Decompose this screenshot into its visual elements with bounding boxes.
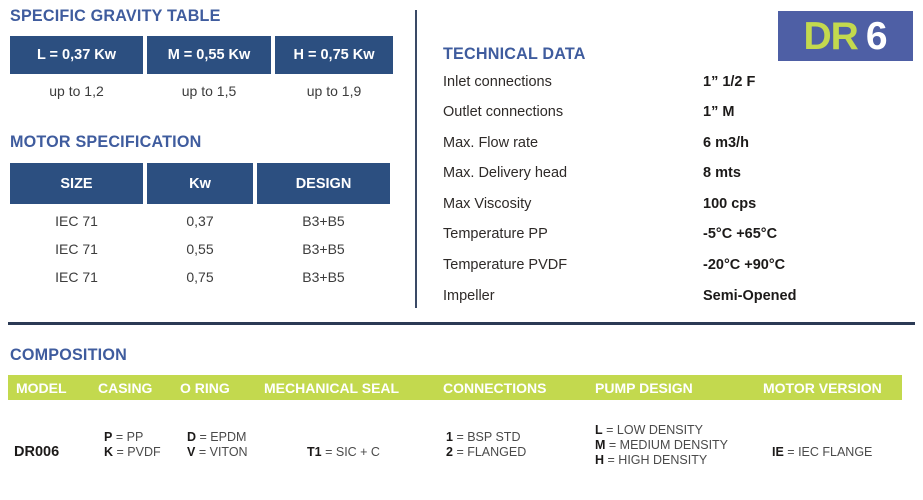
motor-specification-title: MOTOR SPECIFICATION [10,132,201,152]
composition-mechanical-seal-item-0: T1 = SIC + C [307,445,380,460]
composition-header-connections: CONNECTIONS [443,380,546,396]
composition-casing-code-1: K [104,445,113,459]
motor-cell-0-1: 0,37 [147,213,253,229]
composition-casing-item-1: K = PVDF [104,445,161,460]
motor-cell-0-0: IEC 71 [10,213,143,229]
composition-o-ring-item-1: V = VITON [187,445,248,460]
composition-casing-group: P = PP K = PVDF [104,430,161,460]
composition-title: COMPOSITION [10,345,127,365]
composition-header-mechanical-seal: MECHANICAL SEAL [264,380,399,396]
tech-value-5: -5°C +65°C [703,226,777,242]
composition-header-model: MODEL [16,380,67,396]
gravity-cell-sub-1: up to 1,5 [147,83,271,99]
composition-pump-design-value-2: = HIGH DENSITY [608,453,708,467]
composition-casing-item-0: P = PP [104,430,161,445]
composition-o-ring-value-1: = VITON [199,445,248,459]
motor-cell-0-2: B3+B5 [257,213,390,229]
tech-label-2: Max. Flow rate [443,135,538,151]
motor-cell-1-1: 0,55 [147,241,253,257]
specific-gravity-title: SPECIFIC GRAVITY TABLE [10,6,221,26]
gravity-cell-header-1: M = 0,55 Kw [147,36,271,74]
product-code-badge: DR 6 [778,11,913,61]
composition-motor-version-group: IE = IEC FLANGE [772,445,872,460]
technical-data-title: TECHNICAL DATA [443,44,586,64]
composition-connections-value-0: = BSP STD [456,430,520,444]
composition-mechanical-seal-value-0: = SIC + C [325,445,380,459]
composition-header-o-ring: O RING [180,380,230,396]
gravity-cell-sub-0: up to 1,2 [10,83,143,99]
badge-number: 6 [866,17,888,56]
composition-pump-design-value-0: = LOW DENSITY [606,423,703,437]
motor-cell-1-0: IEC 71 [10,241,143,257]
composition-header-bar: MODEL CASING O RING MECHANICAL SEAL CONN… [8,375,902,400]
motor-cell-2-1: 0,75 [147,269,253,285]
composition-connections-code-1: 2 [446,445,453,459]
composition-o-ring-item-0: D = EPDM [187,430,248,445]
tech-value-3: 8 mts [703,165,741,181]
composition-o-ring-code-1: V [187,445,195,459]
composition-motor-version-item-0: IE = IEC FLANGE [772,445,872,460]
composition-motor-version-value-0: = IEC FLANGE [787,445,872,459]
tech-value-2: 6 m3/h [703,135,749,151]
tech-label-6: Temperature PVDF [443,257,567,273]
composition-casing-code-0: P [104,430,112,444]
composition-connections-item-0: 1 = BSP STD [446,430,526,445]
composition-pump-design-value-1: = MEDIUM DENSITY [609,438,728,452]
composition-pump-design-code-0: L [595,423,603,437]
tech-label-1: Outlet connections [443,104,563,120]
section-divider [8,322,915,325]
tech-value-6: -20°C +90°C [703,257,785,273]
composition-o-ring-group: D = EPDM V = VITON [187,430,248,460]
tech-label-5: Temperature PP [443,226,548,242]
composition-connections-code-0: 1 [446,430,453,444]
motor-column-header-size: SIZE [10,163,143,204]
tech-value-4: 100 cps [703,196,756,212]
composition-casing-value-0: = PP [116,430,143,444]
column-divider [415,10,417,308]
composition-casing-value-1: = PVDF [117,445,161,459]
composition-model-value: DR006 [14,444,59,460]
motor-column-header-design: DESIGN [257,163,390,204]
gravity-cell-sub-2: up to 1,9 [275,83,393,99]
badge-prefix: DR [803,17,857,56]
composition-connections-group: 1 = BSP STD 2 = FLANGED [446,430,526,460]
composition-header-casing: CASING [98,380,152,396]
gravity-cell-header-0: L = 0,37 Kw [10,36,143,74]
composition-header-pump-design: PUMP DESIGN [595,380,693,396]
tech-label-7: Impeller [443,288,495,304]
motor-cell-1-2: B3+B5 [257,241,390,257]
motor-column-header-kw: Kw [147,163,253,204]
composition-pump-design-item-0: L = LOW DENSITY [595,423,728,438]
composition-pump-design-code-1: M [595,438,605,452]
composition-pump-design-code-2: H [595,453,604,467]
composition-o-ring-value-0: = EPDM [200,430,247,444]
composition-header-motor-version: MOTOR VERSION [763,380,882,396]
composition-pump-design-item-1: M = MEDIUM DENSITY [595,438,728,453]
motor-cell-2-2: B3+B5 [257,269,390,285]
tech-label-4: Max Viscosity [443,196,531,212]
composition-connections-item-1: 2 = FLANGED [446,445,526,460]
tech-label-3: Max. Delivery head [443,165,567,181]
composition-mechanical-seal-group: T1 = SIC + C [307,445,380,460]
tech-value-0: 1” 1/2 F [703,74,755,90]
tech-value-7: Semi-Opened [703,288,796,304]
composition-o-ring-code-0: D [187,430,196,444]
tech-label-0: Inlet connections [443,74,552,90]
gravity-cell-header-2: H = 0,75 Kw [275,36,393,74]
composition-connections-value-1: = FLANGED [456,445,526,459]
tech-value-1: 1” M [703,104,734,120]
composition-mechanical-seal-code-0: T1 [307,445,322,459]
composition-pump-design-item-2: H = HIGH DENSITY [595,453,728,468]
composition-pump-design-group: L = LOW DENSITY M = MEDIUM DENSITY H = H… [595,423,728,468]
motor-cell-2-0: IEC 71 [10,269,143,285]
composition-motor-version-code-0: IE [772,445,784,459]
